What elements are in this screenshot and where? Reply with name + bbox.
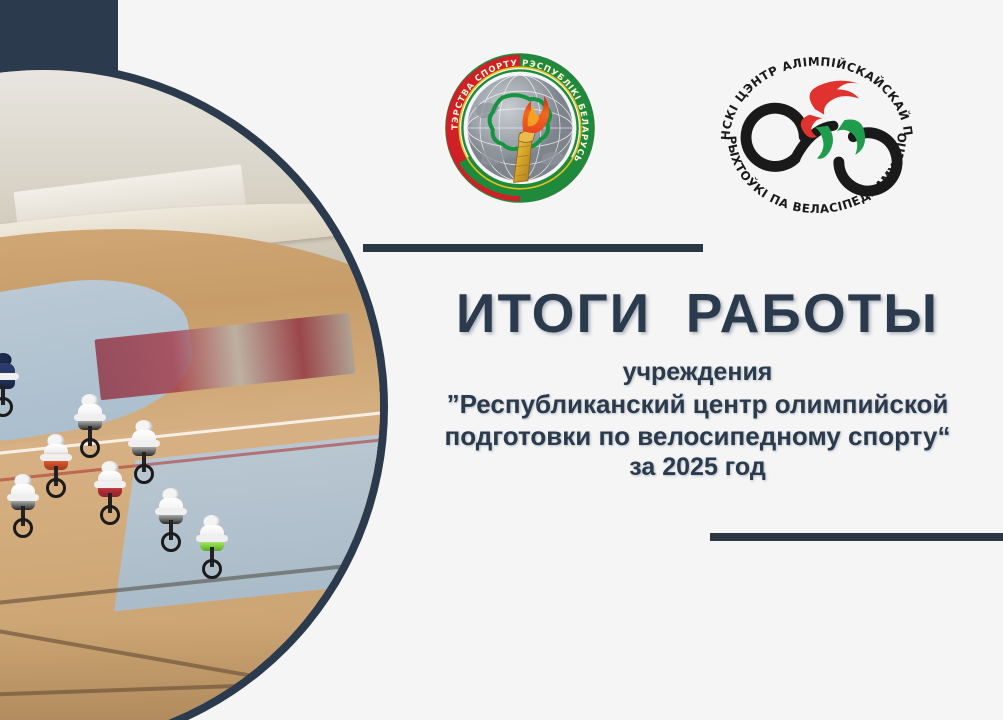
presentation-slide: МІНІСТЭРСТВА СПОРТУ РЭСПУБЛІКІ БЕЛАРУСЬ [0,0,1003,720]
subtitle-line-2: ”Республиканский центр олимпийской [392,388,1003,420]
decorative-rule-top [363,244,703,252]
ministry-of-sport-emblem: МІНІСТЭРСТВА СПОРТУ РЭСПУБЛІКІ БЕЛАРУСЬ [440,48,600,208]
cycling-center-logo: РЭСПУБЛІКАНСКІ ЦЭНТР АЛІМПІЙСКАЙСКАЙ ПАД… [706,42,928,224]
subtitle-line-4: за 2025 год [392,452,1003,483]
subtitle-line-3: подготовки по велосипедному спорту“ [392,420,1003,452]
subtitle-line-1: учреждения [392,357,1003,388]
page-title: ИТОГИ РАБОТЫ [392,285,1003,343]
decorative-rule-bottom [710,533,1003,541]
photo-ring-border [0,62,388,720]
title-block: ИТОГИ РАБОТЫ учреждения ”Республиканский… [392,285,1003,483]
velodrome-peloton-photo [0,70,380,720]
